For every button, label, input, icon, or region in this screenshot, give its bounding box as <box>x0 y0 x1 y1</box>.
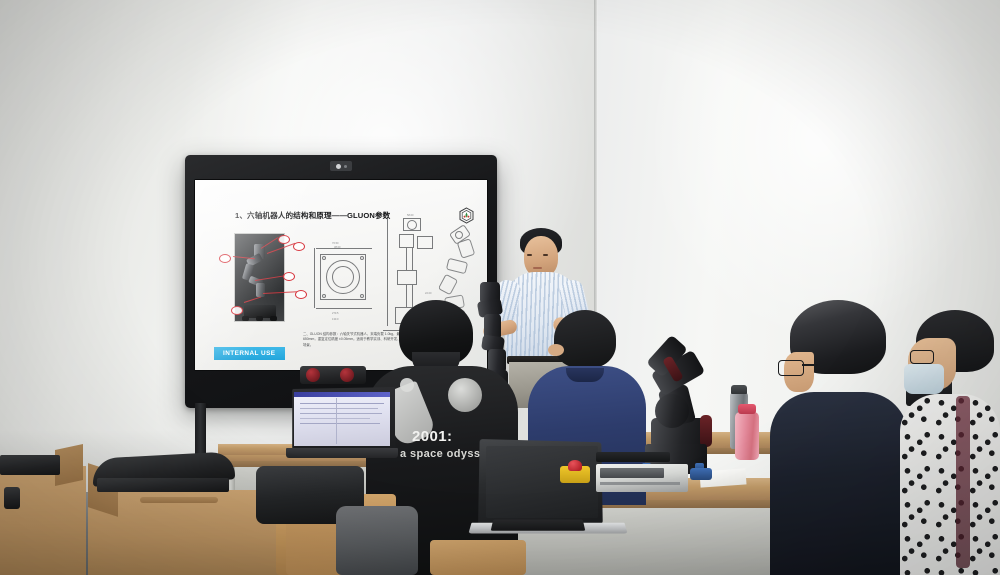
chair-front-center[interactable] <box>430 540 526 575</box>
attendee-right-shirt <box>770 392 908 575</box>
attendee-center-hair <box>554 310 616 368</box>
slide-title: 1、六轴机器人的结构和原理——GLUON参数 <box>235 210 390 221</box>
attendee-right <box>770 300 910 575</box>
glasses-icon <box>778 360 804 376</box>
glasses-icon-far-right <box>910 350 934 364</box>
slide-callout-j1 <box>231 306 243 315</box>
shield-hex-logo <box>459 207 474 224</box>
blue-connector <box>690 468 712 480</box>
ceiling-light-glow-right <box>640 0 1000 350</box>
emergency-stop-button[interactable] <box>560 466 590 483</box>
cad-dim-5: 58.00 <box>407 214 414 217</box>
slide-callout-j4 <box>219 254 231 263</box>
face-mask-icon <box>904 364 944 394</box>
slide-callout-j3 <box>283 272 295 281</box>
slide-callout-j6 <box>278 235 290 244</box>
cad-dim-3: 270.5 <box>332 312 339 315</box>
webcam-icon <box>330 161 352 171</box>
classroom-scene: 1、六轴机器人的结构和原理——GLUON参数 <box>0 0 1000 575</box>
attendee-far-right-shirt <box>900 394 1000 575</box>
robot-controller-box <box>596 464 688 492</box>
cad-dim-1: 76.50 <box>332 242 339 245</box>
attendee-far-right <box>900 310 1000 575</box>
internal-use-badge: INTERNAL USE <box>214 347 285 360</box>
cable-bundle <box>596 452 670 462</box>
tshirt-print-line1: 2001: <box>412 428 452 445</box>
presenter-head <box>524 236 558 277</box>
cad-dim-2: 38.00 <box>334 246 341 249</box>
pink-water-bottle <box>735 412 759 460</box>
equipment-dark-left <box>0 455 60 475</box>
grey-bag-on-chair <box>336 506 418 575</box>
cad-dim-4: 130.0 <box>332 318 339 321</box>
display-stand-left <box>195 403 206 457</box>
cardboard-box-left <box>0 466 86 575</box>
